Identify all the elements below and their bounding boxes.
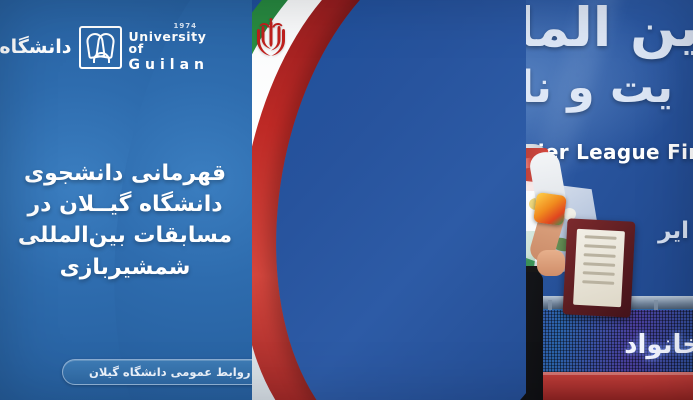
- athlete-right-hand: [537, 250, 565, 276]
- backdrop-english-line-3: Iran/Urm: [244, 208, 408, 247]
- led-sponsor-persian-2: خانواد: [624, 330, 693, 360]
- headline-line-1: قهرمانی دانشجوی: [8, 158, 242, 189]
- photo-stage: ین المللـــ یت و نال لیگ برتر Satellite …: [230, 0, 693, 400]
- jersey-brand-logo: [453, 194, 468, 209]
- athlete-figure: [415, 44, 580, 400]
- athlete-eye: [468, 92, 481, 98]
- gold-medal: [533, 192, 567, 226]
- university-logo[interactable]: 1974 University of Guilan دانشگاه گیلان: [14, 24, 209, 70]
- public-relations-badge[interactable]: روابط عمومی دانشگاه گیلان: [62, 359, 252, 385]
- athlete-ear: [453, 88, 462, 104]
- athlete-nose: [485, 99, 493, 113]
- athlete-hair: [453, 50, 525, 90]
- plaque-inner-card: [573, 229, 625, 307]
- athlete-ear: [517, 88, 526, 104]
- backdrop-english-line-2: Sabre ood: [244, 168, 421, 204]
- logo-line-guilan: Guilan: [129, 58, 209, 72]
- headline-text: قهرمانی دانشجوی دانشگاه گیــلان در مسابق…: [8, 158, 242, 283]
- athlete-eye: [497, 92, 510, 98]
- logo-line-university-of: University of: [129, 31, 209, 56]
- logo-english-wordmark: 1974 University of Guilan: [129, 23, 209, 72]
- guilan-crest-icon: [79, 26, 122, 69]
- jersey-placket: [477, 150, 482, 186]
- headline-line-3: مسابقات بین‌المللی: [8, 220, 242, 251]
- headline-line-2: دانشگاه گیــلان در: [8, 189, 242, 220]
- headline-line-4: شمشیربازی: [8, 252, 242, 283]
- logo-persian-wordmark: دانشگاه گیلان: [0, 36, 72, 58]
- athlete-trousers: [443, 272, 543, 400]
- backdrop-persian-line-3: ایر: [658, 218, 689, 244]
- news-banner: ین المللـــ یت و نال لیگ برتر Satellite …: [0, 0, 693, 400]
- info-panel: 1974 University of Guilan دانشگاه گیلان …: [0, 0, 252, 400]
- award-plaque: [563, 218, 636, 317]
